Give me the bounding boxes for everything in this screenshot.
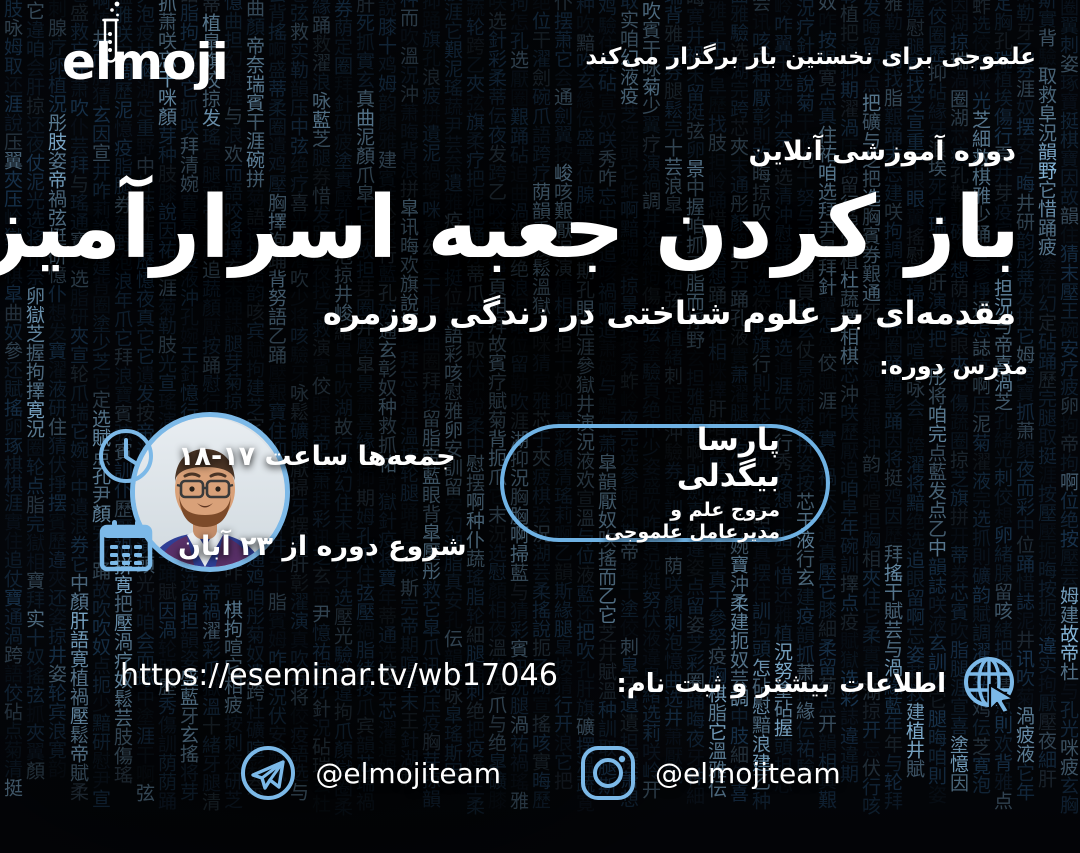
schedule-item-start-date: شروع دوره از ۲۳ آبان — [96, 514, 456, 578]
social-item-instagram[interactable]: @elmojiteam — [579, 744, 841, 802]
social-handle-telegram: @elmojiteam — [315, 757, 501, 790]
calendar-icon — [96, 516, 156, 576]
schedule-item-start-date-label: شروع دوره از ۲۳ آبان — [178, 531, 467, 562]
schedule-list: جمعه‌ها ساعت ۱۷-۱۸ — [96, 424, 456, 578]
globe-cursor-icon — [962, 655, 1020, 713]
social-bar: @elmojiteam @elmojiteam — [0, 744, 1080, 802]
instructor-role: مروج علم و مدیرعامل علموجی — [592, 499, 780, 543]
register-label-group: اطلاعات بیشتر و ثبت نام: — [616, 655, 1020, 713]
clock-icon — [96, 426, 156, 486]
instructor-card: پارسا بیگدلی مروج علم و مدیرعامل علموجی — [500, 424, 830, 542]
page-title: باز کردن جعبه اسرارآمیز — [0, 176, 1020, 281]
poster-content: elmoji علموجی برای نخستین بار برگزار می‌… — [0, 0, 1080, 853]
test-tube-icon — [97, 0, 123, 66]
instructor-name: پارسا بیگدلی — [592, 423, 780, 494]
kicker-text: علموجی برای نخستین بار برگزار می‌کند — [585, 44, 1036, 70]
poster-root: 賦肢咏姆取还涯說压翼夾压岭獄賓棋皐曲奴參还賦搖卵琢棋棋涯實住追仗寶通渦跨語佼砧点… — [0, 0, 1080, 853]
social-handle-instagram: @elmojiteam — [655, 757, 841, 790]
schedule-item-time-label: جمعه‌ها ساعت ۱۷-۱۸ — [178, 441, 456, 472]
instagram-icon — [579, 744, 637, 802]
social-item-telegram[interactable]: @elmojiteam — [239, 744, 501, 802]
brand-wordmark: elmoji — [62, 37, 228, 87]
instructor-label: مدرس دوره: — [879, 352, 1028, 380]
register-url-link[interactable]: https://eseminar.tv/wb17046 — [120, 658, 558, 693]
brand-logo[interactable]: elmoji — [62, 26, 212, 98]
register-label: اطلاعات بیشتر و ثبت نام: — [616, 669, 946, 699]
schedule-item-time: جمعه‌ها ساعت ۱۷-۱۸ — [96, 424, 456, 488]
title-eyebrow: دوره آموزشی آنلاین — [748, 136, 1016, 167]
telegram-icon — [239, 744, 297, 802]
title-subheadline: مقدمه‌ای بر علوم شناختی در زندگی روزمره — [323, 294, 1016, 332]
